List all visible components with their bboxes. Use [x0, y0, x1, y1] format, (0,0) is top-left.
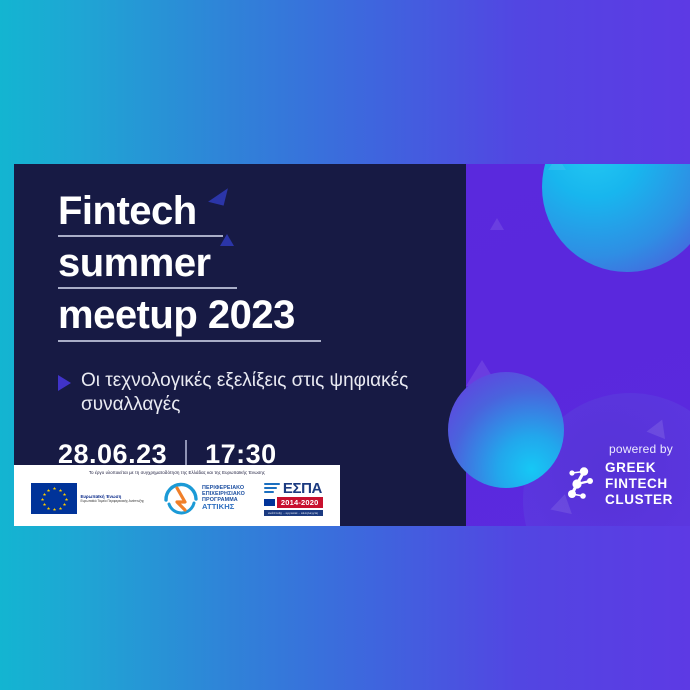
headline-line-1: Fintech	[58, 190, 223, 237]
attiki-programme-text: ΠΕΡΙΦΕΡΕΙΑΚΟ ΕΠΙΧΕΙΡΗΣΙΑΚΟ ΠΡΟΓΡΑΜΜΑ ΑΤΤ…	[202, 485, 245, 512]
play-triangle-icon	[58, 375, 71, 391]
programme-line-2: ΕΠΙΧΕΙΡΗΣΙΑΚΟ	[202, 491, 245, 497]
headline-line-2: summer	[58, 242, 237, 289]
brand-line-1: GREEK	[605, 460, 673, 476]
brand-line-2: FINTECH	[605, 476, 673, 492]
eu-logo-text: Ευρωπαϊκή Ένωση Ευρωπαϊκό Ταμείο Περιφερ…	[80, 494, 144, 503]
attiki-programme-logo: ΠΕΡΙΦΕΡΕΙΑΚΟ ΕΠΙΧΕΙΡΗΣΙΑΚΟ ΠΡΟΓΡΑΜΜΑ ΑΤΤ…	[163, 481, 245, 515]
espa-wordmark: ΕΣΠΑ	[283, 481, 322, 496]
brand-lockup: GREEK FINTECH CLUSTER	[568, 460, 673, 508]
programme-line-1: ΠΕΡΙΦΕΡΕΙΑΚΟ	[202, 485, 245, 491]
banner-content: Fintech summer meetup 2023 Οι τεχνολογικ…	[58, 190, 458, 512]
brand-line-3: CLUSTER	[605, 492, 673, 508]
espa-stripes-icon	[264, 483, 280, 494]
espa-years: 2014-2020	[277, 497, 323, 508]
decor-sphere-top	[542, 164, 690, 272]
espa-funding-footer: Το έργο υλοποιείται με τη συγχρηματοδότη…	[14, 465, 340, 526]
network-nodes-icon	[568, 467, 598, 501]
espa-slogan: ανάπτυξη - εργασία - αλληλεγγύη	[264, 510, 323, 516]
powered-by-label: powered by	[568, 442, 673, 456]
espa-logo-row: ★ ★ ★ ★ ★ ★ ★ ★ ★ ★ ★ ★ Ευρωπαϊκή Ένωση …	[22, 478, 332, 518]
espa-logo: ΕΣΠΑ 2014-2020 ανάπτυξη - εργασία - αλλη…	[264, 481, 323, 516]
headline-line-3: meetup 2023	[58, 294, 321, 341]
espa-wordmark-row: ΕΣΠΑ	[264, 481, 323, 496]
poster-canvas: Fintech summer meetup 2023 Οι τεχνολογικ…	[0, 0, 690, 690]
espa-caption: Το έργο υλοποιείται με τη συγχρηματοδότη…	[17, 470, 336, 475]
powered-by-block: powered by	[568, 442, 673, 508]
decor-triangle-3	[490, 218, 504, 230]
programme-line-4: ΑΤΤΙΚΗΣ	[202, 503, 245, 512]
brand-name: GREEK FINTECH CLUSTER	[605, 460, 673, 508]
eu-subtitle: Ευρωπαϊκό Ταμείο Περιφερειακής Ανάπτυξης	[80, 499, 144, 503]
eu-flag-mini-icon	[264, 499, 275, 506]
event-headline: Fintech summer meetup 2023	[58, 190, 458, 347]
eu-flag-icon: ★ ★ ★ ★ ★ ★ ★ ★ ★ ★ ★ ★	[31, 483, 77, 514]
eu-logo: ★ ★ ★ ★ ★ ★ ★ ★ ★ ★ ★ ★ Ευρωπαϊκή Ένωση …	[31, 483, 144, 514]
decor-triangle-7	[548, 164, 566, 170]
attiki-swirl-icon	[163, 481, 199, 515]
espa-years-row: 2014-2020	[264, 497, 323, 508]
event-subtitle-row: Οι τεχνολογικές εξελίξεις στις ψηφιακές …	[58, 369, 458, 418]
decor-sphere-bottom	[448, 372, 564, 488]
event-subtitle: Οι τεχνολογικές εξελίξεις στις ψηφιακές …	[81, 369, 411, 418]
